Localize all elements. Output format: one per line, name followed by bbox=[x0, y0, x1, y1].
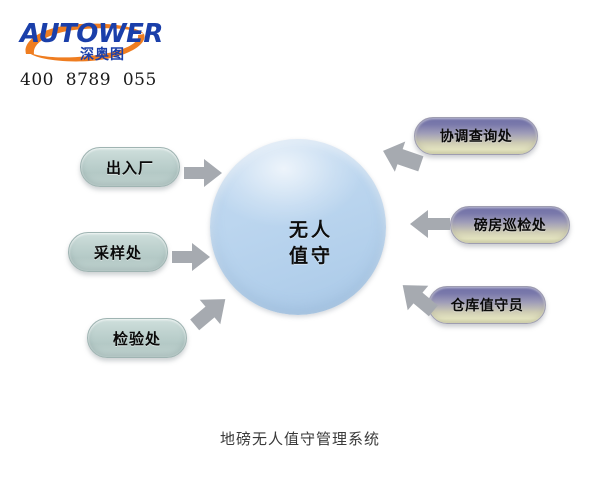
node-cangkuzhishouyuan[interactable]: 仓库值守员 bbox=[428, 286, 546, 324]
arrow-from-caiyangchu-icon bbox=[170, 240, 214, 274]
diagram-caption: 地磅无人值守管理系统 bbox=[0, 428, 600, 449]
node-xietiaochaxunchu[interactable]: 协调查询处 bbox=[414, 117, 538, 155]
node-jianyanchu-label: 检验处 bbox=[113, 328, 161, 349]
center-hub-node: 无人 值守 bbox=[210, 139, 386, 315]
node-cangkuzhishouyuan-label: 仓库值守员 bbox=[451, 295, 524, 315]
center-hub-line-2: 值守 bbox=[289, 244, 333, 270]
arrow-from-jianyanchu-icon bbox=[186, 288, 234, 336]
node-caiyangchu[interactable]: 采样处 bbox=[68, 232, 168, 272]
node-pangfangxunjianchu[interactable]: 磅房巡检处 bbox=[450, 206, 570, 244]
diagram-stage: 无人 值守 出入厂 采样处 检验处 协调查询处 磅房巡检处 仓库值守员 bbox=[0, 0, 600, 480]
logo-wordmark-cn: 深奥图 bbox=[80, 44, 125, 64]
node-xietiaochaxunchu-label: 协调查询处 bbox=[440, 126, 513, 146]
node-churuchang[interactable]: 出入厂 bbox=[80, 147, 180, 187]
center-hub-line-1: 无人 bbox=[289, 218, 333, 244]
node-jianyanchu[interactable]: 检验处 bbox=[87, 318, 187, 358]
autower-logo: AUTOWER 深奥图 bbox=[18, 12, 148, 62]
node-churuchang-label: 出入厂 bbox=[106, 157, 154, 178]
node-caiyangchu-label: 采样处 bbox=[94, 242, 142, 263]
center-hub-label: 无人 值守 bbox=[289, 218, 333, 269]
node-pangfangxunjianchu-label: 磅房巡检处 bbox=[474, 215, 547, 235]
arrow-to-pangfangxunjianchu-icon bbox=[406, 207, 452, 241]
